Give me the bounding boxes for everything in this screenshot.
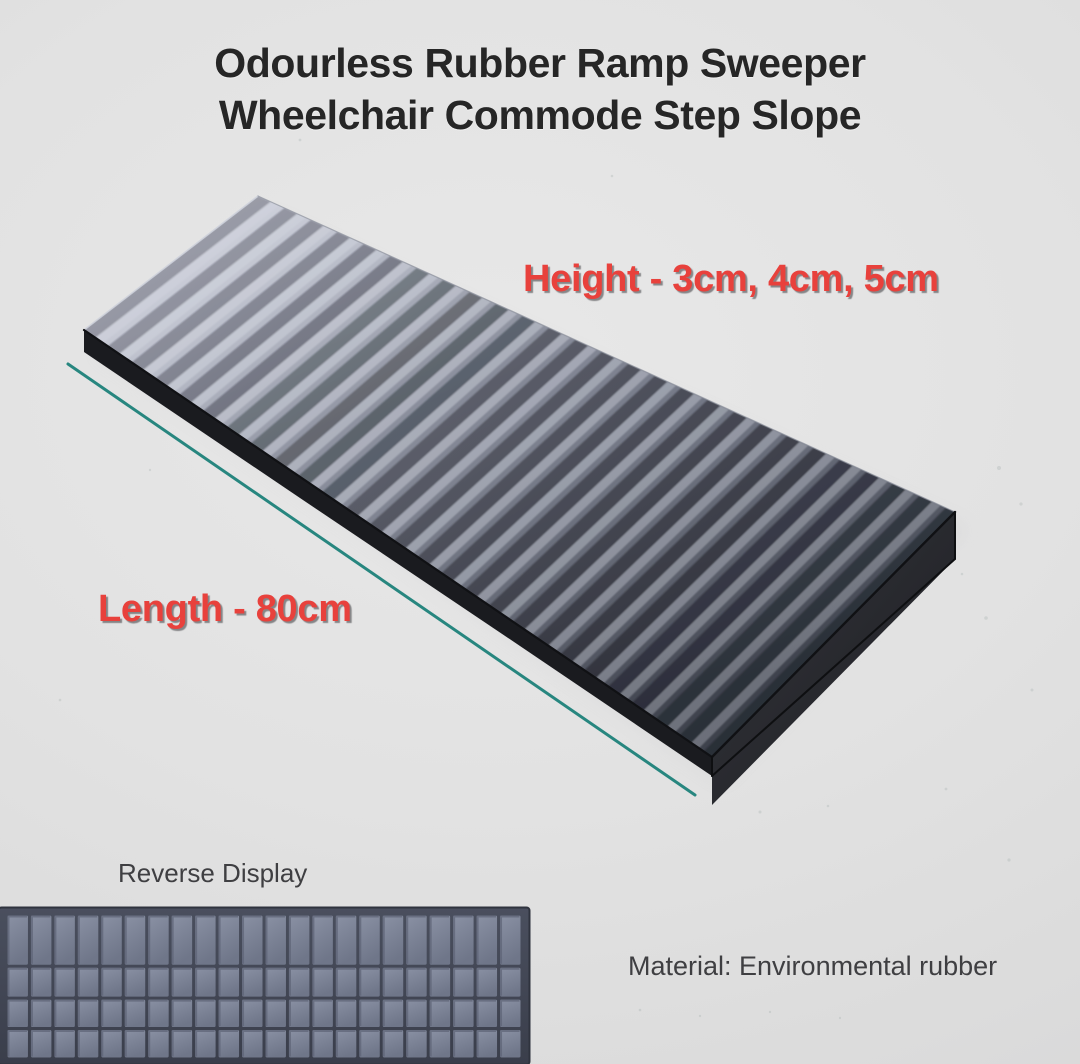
reverse-cell xyxy=(289,1030,309,1057)
reverse-cell xyxy=(312,1030,332,1057)
reverse-cell xyxy=(172,1030,192,1057)
reverse-cell xyxy=(336,1000,356,1027)
reverse-cell xyxy=(336,1030,356,1057)
reverse-cell xyxy=(477,1030,497,1057)
reverse-cell xyxy=(453,1030,473,1057)
reverse-cell xyxy=(289,1000,309,1027)
material-caption: Material: Environmental rubber xyxy=(628,951,997,982)
reverse-cell xyxy=(31,1030,51,1057)
reverse-cell xyxy=(242,1030,262,1057)
reverse-cell xyxy=(242,916,262,965)
reverse-cell xyxy=(195,1000,215,1027)
reverse-cell xyxy=(500,1030,520,1057)
reverse-cell xyxy=(219,968,239,997)
reverse-cell xyxy=(101,1000,121,1027)
reverse-cell xyxy=(312,916,332,965)
reverse-cell xyxy=(312,1000,332,1027)
reverse-cell xyxy=(266,1000,286,1027)
reverse-cell xyxy=(359,1000,379,1027)
reverse-cell xyxy=(101,968,121,997)
reverse-display-photo xyxy=(0,903,536,1064)
reverse-cell xyxy=(359,968,379,997)
reverse-cell xyxy=(242,1000,262,1027)
reverse-cell xyxy=(500,1000,520,1027)
reverse-cell xyxy=(383,968,403,997)
reverse-cell xyxy=(78,916,98,965)
reverse-cell xyxy=(8,968,28,997)
reverse-cell xyxy=(172,968,192,997)
reverse-cell xyxy=(406,1000,426,1027)
reverse-cell xyxy=(125,968,145,997)
reverse-cell xyxy=(477,968,497,997)
reverse-cell xyxy=(477,1000,497,1027)
reverse-cell xyxy=(148,1000,168,1027)
reverse-cell xyxy=(242,968,262,997)
reverse-cell xyxy=(125,916,145,965)
reverse-cell xyxy=(125,1030,145,1057)
reverse-cell xyxy=(453,968,473,997)
reverse-cell xyxy=(78,1030,98,1057)
reverse-cell xyxy=(54,1000,74,1027)
reverse-cell xyxy=(266,916,286,965)
reverse-cell xyxy=(54,916,74,965)
reverse-cell xyxy=(78,968,98,997)
reverse-cell xyxy=(195,968,215,997)
reverse-cell xyxy=(500,968,520,997)
reverse-cell xyxy=(430,916,450,965)
reverse-cell xyxy=(430,1030,450,1057)
reverse-cell xyxy=(54,968,74,997)
reverse-cell xyxy=(406,1030,426,1057)
reverse-cell xyxy=(219,916,239,965)
reverse-cell xyxy=(289,916,309,965)
reverse-cell xyxy=(453,916,473,965)
reverse-cell xyxy=(8,1030,28,1057)
reverse-cell xyxy=(219,1030,239,1057)
reverse-cell xyxy=(406,916,426,965)
reverse-cell xyxy=(383,1000,403,1027)
length-annotation: Length - 80cm xyxy=(98,588,352,631)
reverse-cell xyxy=(148,916,168,965)
reverse-cell xyxy=(266,968,286,997)
reverse-cell xyxy=(78,1000,98,1027)
reverse-cell xyxy=(359,916,379,965)
reverse-cell xyxy=(101,916,121,965)
reverse-cell xyxy=(500,916,520,965)
reverse-cell xyxy=(289,968,309,997)
reverse-cell xyxy=(219,1000,239,1027)
height-annotation: Height - 3cm, 4cm, 5cm xyxy=(523,258,939,301)
reverse-cell xyxy=(477,916,497,965)
reverse-cell xyxy=(172,1000,192,1027)
reverse-cell xyxy=(8,1000,28,1027)
reverse-cell xyxy=(31,1000,51,1027)
reverse-cell xyxy=(8,916,28,965)
product-image-canvas: Odourless Rubber Ramp Sweeper Wheelchair… xyxy=(0,0,1080,1064)
reverse-cell xyxy=(195,1030,215,1057)
reverse-cell xyxy=(430,1000,450,1027)
reverse-cell xyxy=(101,1030,121,1057)
reverse-cell xyxy=(383,1030,403,1057)
reverse-cell xyxy=(453,1000,473,1027)
reverse-cell xyxy=(359,1030,379,1057)
reverse-cell xyxy=(430,968,450,997)
reverse-cell xyxy=(125,1000,145,1027)
reverse-cell xyxy=(312,968,332,997)
reverse-cell xyxy=(172,916,192,965)
reverse-cell xyxy=(54,1030,74,1057)
reverse-cell xyxy=(148,1030,168,1057)
reverse-cell xyxy=(31,916,51,965)
reverse-cell xyxy=(336,916,356,965)
reverse-cell xyxy=(148,968,168,997)
reverse-display-caption: Reverse Display xyxy=(118,858,307,889)
reverse-cell xyxy=(406,968,426,997)
reverse-cell xyxy=(336,968,356,997)
reverse-cell xyxy=(383,916,403,965)
reverse-cell xyxy=(195,916,215,965)
reverse-cell xyxy=(31,968,51,997)
reverse-cell xyxy=(266,1030,286,1057)
